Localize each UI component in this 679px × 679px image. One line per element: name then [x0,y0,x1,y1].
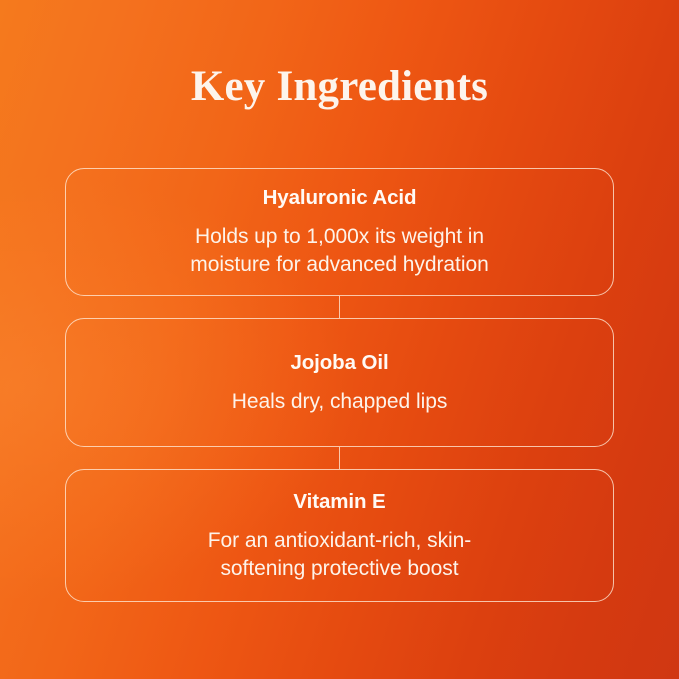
content-area: Key Ingredients Hyaluronic Acid Holds up… [0,0,679,679]
ingredient-title: Vitamin E [293,489,385,515]
ingredient-description: For an antioxidant-rich, skin- softening… [208,527,471,583]
key-ingredients-infographic: Key Ingredients Hyaluronic Acid Holds up… [0,0,679,679]
ingredient-card-jojoba-oil: Jojoba Oil Heals dry, chapped lips [65,318,614,447]
ingredient-card-vitamin-e: Vitamin E For an antioxidant-rich, skin-… [65,469,614,602]
ingredient-title: Jojoba Oil [290,350,388,376]
ingredient-description: Heals dry, chapped lips [232,388,448,416]
ingredient-card-list: Hyaluronic Acid Holds up to 1,000x its w… [65,168,614,602]
card-connector-line-1 [65,296,614,318]
ingredient-description: Holds up to 1,000x its weight in moistur… [190,223,488,279]
page-title: Key Ingredients [0,62,679,112]
ingredient-card-hyaluronic-acid: Hyaluronic Acid Holds up to 1,000x its w… [65,168,614,296]
ingredient-title: Hyaluronic Acid [263,185,417,211]
card-connector-line-2 [65,447,614,469]
